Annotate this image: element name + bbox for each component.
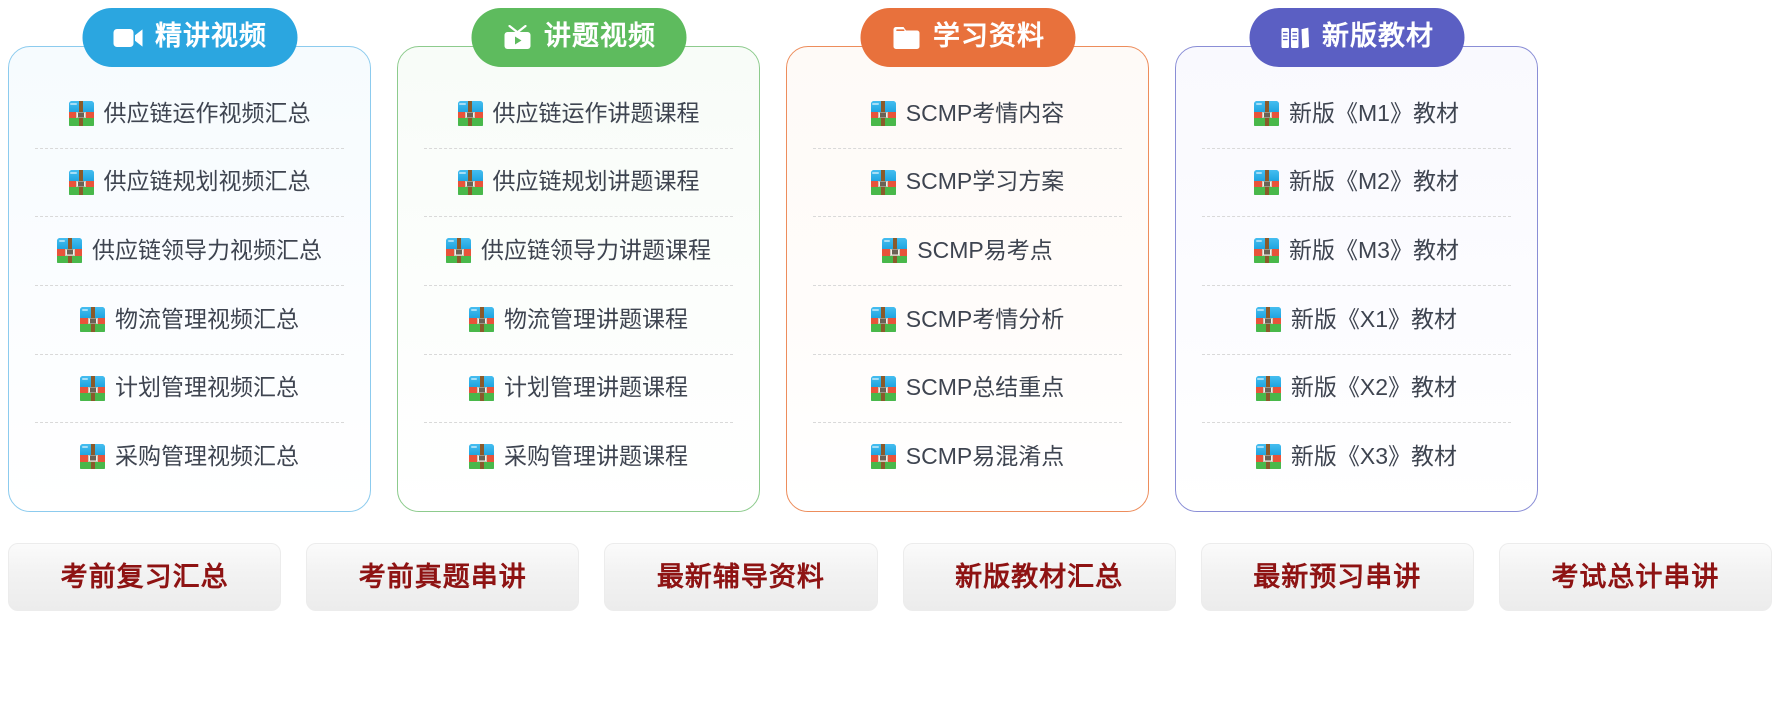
tag-button-zuixin-yuxi-chuanjiang[interactable]: 最新预习串讲: [1201, 543, 1474, 611]
card-xinban-jiaocai: 新版教材 新版《M1》教材 新版《M2》教材 新版《M3》教材: [1175, 0, 1538, 520]
tag-button-label: 最新预习串讲: [1253, 564, 1421, 591]
winrar-archive-icon: [882, 238, 907, 263]
list-item[interactable]: 新版《X3》教材: [1202, 422, 1511, 491]
list-item[interactable]: 新版《X1》教材: [1202, 285, 1511, 354]
winrar-archive-icon: [871, 101, 896, 126]
tag-button-label: 新版教材汇总: [955, 564, 1123, 591]
card-jingjiang-shipin: 精讲视频 供应链运作视频汇总 供应链规划视频汇总 供应链领导力视频汇总: [8, 0, 371, 520]
card-header-1[interactable]: 精讲视频: [82, 8, 297, 67]
winrar-archive-icon: [871, 444, 896, 469]
card-list-1: 供应链运作视频汇总 供应链规划视频汇总 供应链领导力视频汇总 物流管理视频汇总: [35, 79, 344, 491]
winrar-archive-icon: [1254, 238, 1279, 263]
list-item[interactable]: 供应链领导力视频汇总: [35, 216, 344, 285]
list-item-label: 新版《X2》教材: [1291, 375, 1457, 400]
books-icon: [1279, 24, 1311, 52]
winrar-archive-icon: [458, 101, 483, 126]
card-body-2: 供应链运作讲题课程 供应链规划讲题课程 供应链领导力讲题课程 物流管理讲题课程: [397, 46, 760, 512]
card-header-3[interactable]: 学习资料: [860, 8, 1075, 67]
list-item-label: 物流管理讲题课程: [504, 307, 688, 332]
tag-button-kaoqian-zhenti-chuanjiang[interactable]: 考前真题串讲: [306, 543, 579, 611]
list-item-label: 物流管理视频汇总: [115, 307, 299, 332]
tag-button-label: 最新辅导资料: [657, 564, 825, 591]
list-item[interactable]: 新版《X2》教材: [1202, 354, 1511, 423]
list-item-label: 计划管理视频汇总: [115, 375, 299, 400]
tag-button-label: 考试总计串讲: [1551, 564, 1719, 591]
list-item[interactable]: SCMP考情分析: [813, 285, 1122, 354]
list-item[interactable]: 供应链规划讲题课程: [424, 148, 733, 217]
card-body-3: SCMP考情内容 SCMP学习方案 SCMP易考点 SCMP考情分析: [786, 46, 1149, 512]
winrar-archive-icon: [458, 170, 483, 195]
card-title-4: 新版教材: [1322, 23, 1434, 50]
winrar-archive-icon: [1254, 170, 1279, 195]
list-item-label: SCMP学习方案: [906, 169, 1064, 194]
list-item[interactable]: 采购管理讲题课程: [424, 422, 733, 491]
resource-board: 精讲视频 供应链运作视频汇总 供应链规划视频汇总 供应链领导力视频汇总: [0, 0, 1780, 710]
list-item-label: SCMP总结重点: [906, 375, 1064, 400]
list-item-label: 供应链规划讲题课程: [493, 169, 700, 194]
winrar-archive-icon: [1256, 376, 1281, 401]
folder-icon: [890, 24, 922, 52]
winrar-archive-icon: [57, 238, 82, 263]
list-item-label: SCMP考情分析: [906, 307, 1064, 332]
list-item[interactable]: 新版《M1》教材: [1202, 79, 1511, 148]
list-item[interactable]: 物流管理视频汇总: [35, 285, 344, 354]
card-list-2: 供应链运作讲题课程 供应链规划讲题课程 供应链领导力讲题课程 物流管理讲题课程: [424, 79, 733, 491]
list-item[interactable]: SCMP总结重点: [813, 354, 1122, 423]
card-jiangti-shipin: 讲题视频 供应链运作讲题课程 供应链规划讲题课程 供应链领导力讲题课程: [397, 0, 760, 520]
list-item[interactable]: 供应链运作讲题课程: [424, 79, 733, 148]
list-item-label: SCMP易混淆点: [906, 444, 1064, 469]
card-header-4[interactable]: 新版教材: [1249, 8, 1464, 67]
winrar-archive-icon: [80, 376, 105, 401]
list-item[interactable]: SCMP考情内容: [813, 79, 1122, 148]
list-item-label: 采购管理讲题课程: [504, 444, 688, 469]
winrar-archive-icon: [469, 444, 494, 469]
card-xuexi-ziliao: 学习资料 SCMP考情内容 SCMP学习方案 SCMP易考点: [786, 0, 1149, 520]
tag-button-label: 考前真题串讲: [359, 564, 527, 591]
card-header-2[interactable]: 讲题视频: [471, 8, 686, 67]
card-title-2: 讲题视频: [544, 23, 656, 50]
list-item-label: 供应链规划视频汇总: [104, 169, 311, 194]
list-item[interactable]: 采购管理视频汇总: [35, 422, 344, 491]
tag-button-label: 考前复习汇总: [61, 564, 229, 591]
card-title-1: 精讲视频: [155, 23, 267, 50]
list-item-label: 新版《M3》教材: [1289, 238, 1459, 263]
winrar-archive-icon: [69, 170, 94, 195]
winrar-archive-icon: [871, 170, 896, 195]
list-item-label: 新版《X3》教材: [1291, 444, 1457, 469]
list-item[interactable]: 计划管理讲题课程: [424, 354, 733, 423]
tv-play-icon: [501, 24, 533, 52]
card-list-3: SCMP考情内容 SCMP学习方案 SCMP易考点 SCMP考情分析: [813, 79, 1122, 491]
tag-button-kaoqian-fuxi-huizong[interactable]: 考前复习汇总: [8, 543, 281, 611]
camcorder-icon: [112, 24, 144, 52]
tag-button-kaoshi-zongji-chuanjiang[interactable]: 考试总计串讲: [1499, 543, 1772, 611]
list-item-label: 供应链领导力视频汇总: [92, 238, 322, 263]
list-item-label: SCMP考情内容: [906, 101, 1064, 126]
list-item[interactable]: 新版《M3》教材: [1202, 216, 1511, 285]
winrar-archive-icon: [80, 307, 105, 332]
winrar-archive-icon: [446, 238, 471, 263]
list-item-label: 供应链运作视频汇总: [104, 101, 311, 126]
list-item-label: 供应链领导力讲题课程: [481, 238, 711, 263]
winrar-archive-icon: [1256, 444, 1281, 469]
tag-button-xinban-jiaocai-huizong[interactable]: 新版教材汇总: [903, 543, 1176, 611]
bottom-button-row: 考前复习汇总 考前真题串讲 最新辅导资料 新版教材汇总 最新预习串讲 考试总计串…: [8, 543, 1772, 611]
list-item[interactable]: 新版《M2》教材: [1202, 148, 1511, 217]
winrar-archive-icon: [871, 307, 896, 332]
list-item-label: 采购管理视频汇总: [115, 444, 299, 469]
list-item-label: 新版《M2》教材: [1289, 169, 1459, 194]
tag-button-zuixin-fudao-ziliao[interactable]: 最新辅导资料: [604, 543, 877, 611]
winrar-archive-icon: [469, 376, 494, 401]
card-list-4: 新版《M1》教材 新版《M2》教材 新版《M3》教材 新版《X1》教材: [1202, 79, 1511, 491]
card-title-3: 学习资料: [933, 23, 1045, 50]
winrar-archive-icon: [871, 376, 896, 401]
list-item[interactable]: SCMP易考点: [813, 216, 1122, 285]
list-item[interactable]: SCMP学习方案: [813, 148, 1122, 217]
winrar-archive-icon: [469, 307, 494, 332]
list-item[interactable]: 供应链规划视频汇总: [35, 148, 344, 217]
list-item-label: 新版《X1》教材: [1291, 307, 1457, 332]
winrar-archive-icon: [80, 444, 105, 469]
list-item[interactable]: 供应链领导力讲题课程: [424, 216, 733, 285]
list-item[interactable]: SCMP易混淆点: [813, 422, 1122, 491]
card-body-4: 新版《M1》教材 新版《M2》教材 新版《M3》教材 新版《X1》教材: [1175, 46, 1538, 512]
winrar-archive-icon: [1256, 307, 1281, 332]
card-body-1: 供应链运作视频汇总 供应链规划视频汇总 供应链领导力视频汇总 物流管理视频汇总: [8, 46, 371, 512]
list-item-label: SCMP易考点: [917, 238, 1052, 263]
list-item-label: 供应链运作讲题课程: [493, 101, 700, 126]
list-item[interactable]: 供应链运作视频汇总: [35, 79, 344, 148]
winrar-archive-icon: [1254, 101, 1279, 126]
winrar-archive-icon: [69, 101, 94, 126]
list-item-label: 计划管理讲题课程: [504, 375, 688, 400]
list-item[interactable]: 物流管理讲题课程: [424, 285, 733, 354]
list-item[interactable]: 计划管理视频汇总: [35, 354, 344, 423]
list-item-label: 新版《M1》教材: [1289, 101, 1459, 126]
category-cards-row: 精讲视频 供应链运作视频汇总 供应链规划视频汇总 供应链领导力视频汇总: [0, 0, 1780, 520]
